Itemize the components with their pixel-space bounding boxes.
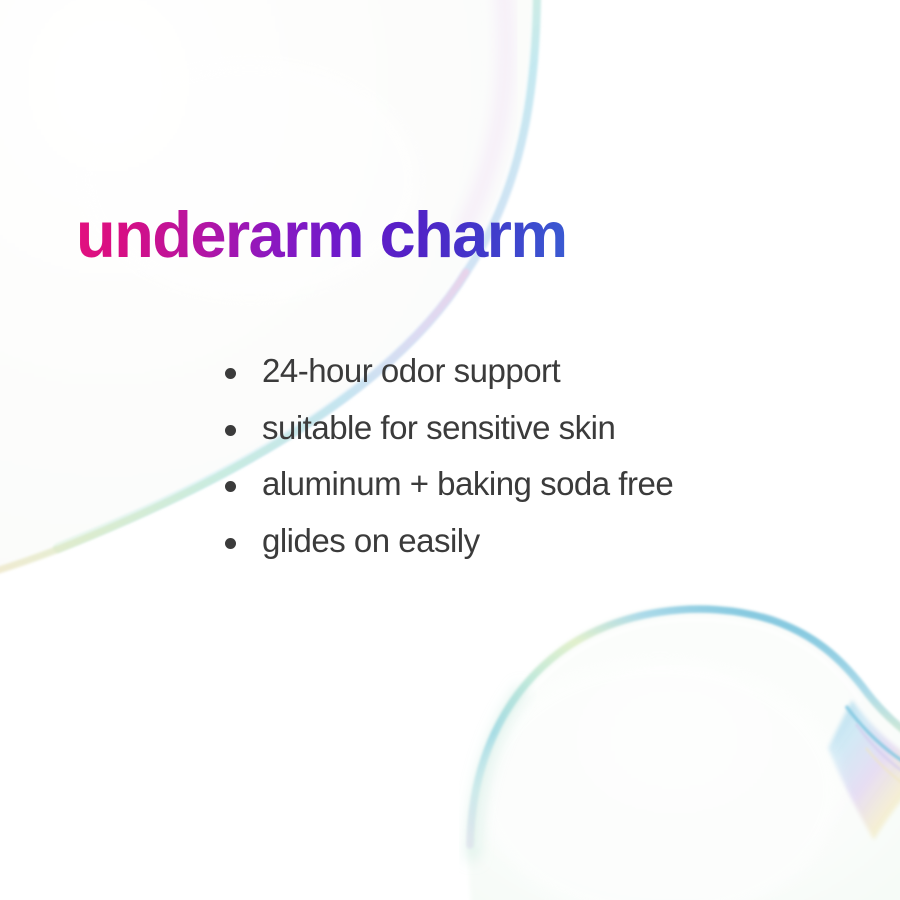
benefit-label: glides on easily (262, 522, 480, 560)
benefit-label: 24-hour odor support (262, 352, 560, 390)
page-title: underarm charm (76, 202, 567, 267)
list-item: glides on easily (222, 522, 673, 579)
list-item: 24-hour odor support (222, 352, 673, 409)
list-item: aluminum + baking soda free (222, 465, 673, 522)
benefits-list: 24-hour odor support suitable for sensit… (222, 352, 673, 578)
copy-block: underarm charm 24-hour odor support suit… (0, 0, 900, 900)
benefit-label: aluminum + baking soda free (262, 465, 673, 503)
poster-canvas: underarm charm 24-hour odor support suit… (0, 0, 900, 900)
list-item: suitable for sensitive skin (222, 409, 673, 466)
benefit-label: suitable for sensitive skin (262, 409, 615, 447)
